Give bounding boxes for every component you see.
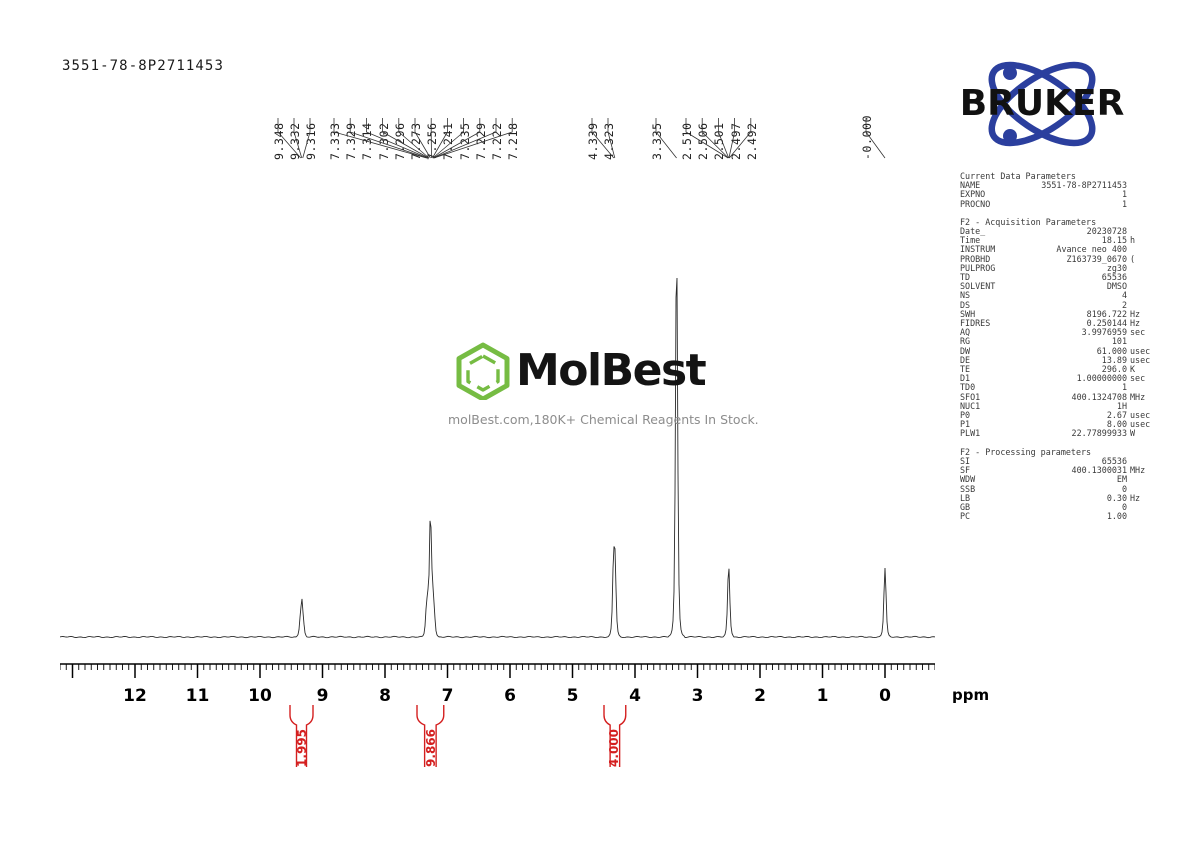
param-section-current: NAME3551-78-8P2711453EXPNO1PROCNO1 [960,181,1160,209]
integral-value: 4.000 [607,729,621,767]
param-row: GB0 [960,503,1160,512]
spectrum-curve [60,278,935,638]
param-unit [1127,503,1160,512]
axis-tick-label: 6 [504,686,516,706]
axis-tick-label: 8 [379,686,391,706]
param-row: WDWEM [960,475,1160,484]
param-unit: ( [1127,255,1160,264]
axis-tick-label: 10 [248,686,272,706]
param-key: PC [960,512,1016,521]
axis-tick-label: 11 [186,686,210,706]
bruker-logo: BRUKER [952,52,1132,157]
axis-tick-label: 0 [879,686,891,706]
param-unit [1127,273,1160,282]
param-row: D11.00000000sec [960,374,1160,383]
param-value: EM [1016,475,1127,484]
param-unit: sec [1127,328,1160,337]
integral-layer: 1.9959.8664.000 [60,705,935,785]
param-key: PLW1 [960,429,1016,438]
molbest-watermark: MolBest molBest.com,180K+ Chemical Reage… [452,342,752,427]
param-unit [1127,190,1160,199]
param-value: 1 [1016,200,1127,209]
param-row: PLW122.77899933W [960,429,1160,438]
param-unit [1127,282,1160,291]
param-row: SOLVENTDMSO [960,282,1160,291]
param-value: 0.30 [1016,494,1127,503]
param-value: 3551-78-8P2711453 [1016,181,1127,190]
axis-tick-label: 4 [629,686,641,706]
axis-tick-label: 9 [317,686,329,706]
peak-leader-lines [0,0,940,160]
param-row: PULPROGzg30 [960,264,1160,273]
param-unit: W [1127,429,1160,438]
molbest-tagline: molBest.com,180K+ Chemical Reagents In S… [448,412,752,427]
axis-tick-label: 1 [817,686,829,706]
param-value: 400.1324708 [1016,393,1127,402]
param-unit [1127,200,1160,209]
param-value: DMSO [1016,282,1127,291]
param-unit [1127,291,1160,300]
param-unit [1127,512,1160,521]
axis-tick-label: 5 [567,686,579,706]
axis-unit-label: ppm [952,686,989,704]
param-section-acquisition: Date_20230728Time18.15hINSTRUMAvance neo… [960,227,1160,439]
param-row: NS4 [960,291,1160,300]
axis-tick-label: 3 [692,686,704,706]
param-row: PROCNO1 [960,200,1160,209]
param-unit: Hz [1127,494,1160,503]
integral-bracket: 9.866 [416,705,445,767]
param-section-processing: SI65536SF400.1300031MHzWDWEMSSB0LB0.30Hz… [960,457,1160,521]
axis-tick-label: 2 [754,686,766,706]
param-value: 22.77899933 [1016,429,1127,438]
param-row: SF400.1300031MHz [960,466,1160,475]
param-value: 4 [1016,291,1127,300]
param-unit: MHz [1127,466,1160,475]
param-unit [1127,475,1160,484]
param-unit [1127,264,1160,273]
param-unit [1127,181,1160,190]
axis-tick-label: 7 [442,686,454,706]
param-value: 400.1300031 [1016,466,1127,475]
param-unit: h [1127,236,1160,245]
param-row: LB0.30Hz [960,494,1160,503]
integral-value: 9.866 [424,729,438,767]
integral-bracket: 4.000 [603,705,627,767]
param-value: 1.00 [1016,512,1127,521]
param-value: 1.00000000 [1016,374,1127,383]
bruker-wordmark: BRUKER [960,83,1125,124]
axis-tick-label: 12 [123,686,147,706]
hexagon-logo-icon [452,342,514,400]
param-key: PROCNO [960,200,1016,209]
integral-value: 1.995 [295,729,309,767]
param-unit: MHz [1127,393,1160,402]
param-row: PC1.00 [960,512,1160,521]
param-section-head-processing: F2 - Processing parameters [960,448,1160,457]
bruker-atom-icon: BRUKER [952,52,1132,157]
param-unit: sec [1127,374,1160,383]
param-row: SFO1400.1324708MHz [960,393,1160,402]
param-row: AQ3.9976959sec [960,328,1160,337]
param-row: NAME3551-78-8P2711453 [960,181,1160,190]
param-value: 1 [1016,190,1127,199]
param-value: 3.9976959 [1016,328,1127,337]
molbest-wordmark: MolBest [516,349,705,393]
acquisition-parameter-panel: Current Data Parameters NAME3551-78-8P27… [960,172,1160,521]
peak-label-layer: 9.3489.3329.3167.3337.3297.3147.3027.296… [0,0,940,160]
integral-bracket: 1.995 [289,705,314,767]
param-row: EXPNO1 [960,190,1160,199]
param-section-head-acquisition: F2 - Acquisition Parameters [960,218,1160,227]
